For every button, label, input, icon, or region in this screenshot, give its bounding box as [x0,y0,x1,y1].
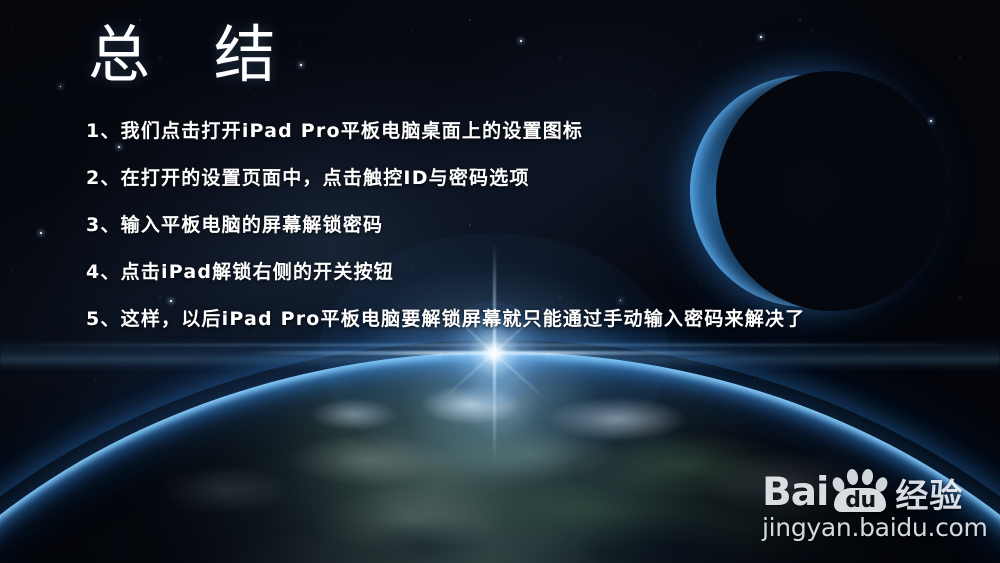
paw-pad: du [834,488,886,512]
paw-toe-3 [861,468,874,485]
bright-star [300,64,302,66]
baidu-paw-icon: du [829,468,891,512]
list-item: 3、输入平板电脑的屏幕解锁密码 [86,202,936,249]
baidu-wordmark-du: du [834,488,886,512]
baidu-wordmark-prefix: Bai [762,473,828,512]
paw-toe-2 [846,468,859,485]
watermark-url: jingyan.baidu.com [762,514,994,542]
list-item: 5、这样，以后iPad Pro平板电脑要解锁屏幕就只能通过手动输入密码来解决了 [86,296,891,343]
presentation-slide: 总 结 1、我们点击打开iPad Pro平板电脑桌面上的设置图标 2、在打开的设… [0,0,1000,563]
bright-star [520,40,522,42]
jingyan-wordmark: 经验 [895,479,963,512]
baidu-jingyan-watermark: Bai du 经验 jingyan.baidu.com [762,468,994,542]
list-item: 2、在打开的设置页面中，点击触控ID与密码选项 [86,155,936,202]
bright-star [760,36,762,38]
list-item: 4、点击iPad解锁右侧的开关按钮 [86,249,936,296]
bright-star [40,232,42,234]
watermark-logo-row: Bai du 经验 [762,468,994,512]
list-item: 1、我们点击打开iPad Pro平板电脑桌面上的设置图标 [86,108,936,155]
summary-steps-list: 1、我们点击打开iPad Pro平板电脑桌面上的设置图标 2、在打开的设置页面中… [86,108,936,343]
page-title: 总 结 [88,16,298,94]
